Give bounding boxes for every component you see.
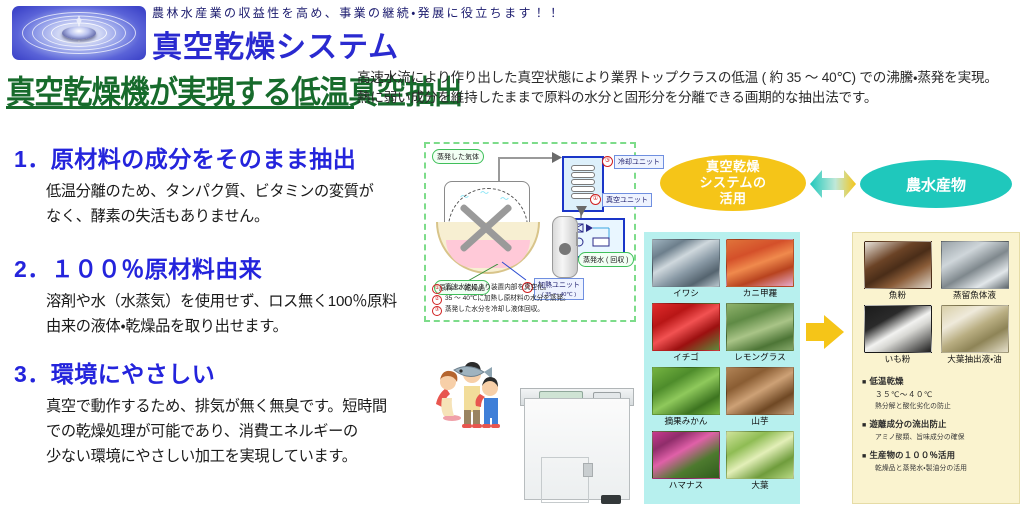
photo-lemongrass xyxy=(726,303,794,351)
list-item: 山芋 xyxy=(726,367,794,427)
feature-item-1: 1．原材料の成分をそのまま抽出 低温分離のため、タンパク質、ビタミンの変質が な… xyxy=(14,140,414,229)
legend-text-3: 蒸発した水分を冷却し液体回収。 xyxy=(445,305,544,315)
lede-line-2: 熱に弱い成分を維持したままで原料の水分と固形分を分離できる画期的な抽出法です。 xyxy=(357,88,1022,108)
photo-label: 摘果みかん xyxy=(665,416,708,427)
feature-1-title: 1．原材料の成分をそのまま抽出 xyxy=(14,140,414,174)
photo-jouryu-gyotaieki xyxy=(941,241,1009,289)
product-label: 蒸留魚体液 xyxy=(953,290,996,301)
feature-item-3: 3．環境にやさしい 真空で動作するため、排気が無く無臭です。短時間 での乾燥処理… xyxy=(14,355,414,469)
process-diagram: 蒸発した気体 ③ 冷却ユニット ① 真空ユニット xyxy=(424,142,636,322)
photo-tekka-mikan xyxy=(652,367,720,415)
benefit-1-sub: ３５℃〜４０℃ xyxy=(875,389,1010,401)
arrow-down-icon xyxy=(576,206,587,216)
photo-label: 大葉 xyxy=(751,480,768,491)
legend-line-2: ② 35 〜 40℃に加熱し原材料の水分を蒸発。 xyxy=(432,294,632,305)
raw-materials-panel: イワシ カニ甲羅 イチゴ レモングラス 摘果みかん 山芋 xyxy=(644,232,800,504)
list-item: 大葉抽出液・油 xyxy=(939,305,1010,365)
list-item: 大葉 xyxy=(726,431,794,491)
product-label: いも粉 xyxy=(885,354,911,365)
feature-1-line-1: 低温分離のため、タンパク質、ビタミンの変質が xyxy=(46,179,414,204)
poster-root: 農林水産業の収益性を高め、事業の継続・発展に役立ちます！！ 真空乾燥システム 真… xyxy=(0,0,1024,512)
feature-item-2: 2．１００％原材料由来 溶剤や水（水蒸気）を使用せず、ロス無く100％原料 由来… xyxy=(14,250,414,339)
photo-label: 山芋 xyxy=(751,416,768,427)
feature-3-line-3: 少ない環境にやさしい加工を実現しています。 xyxy=(46,444,414,469)
list-item: カニ甲羅 xyxy=(726,239,794,299)
family-holding-fish-illustration xyxy=(428,358,518,428)
photo-label: カニ甲羅 xyxy=(743,288,777,299)
benefit-2-sub2: アミノ酸類、旨味成分の確保 xyxy=(875,432,1010,444)
benefit-2-title: 遊離成分の流出防止 xyxy=(862,418,1010,432)
photo-imoko xyxy=(864,305,932,353)
photo-yamaimo xyxy=(726,367,794,415)
recovery-tank xyxy=(552,216,578,278)
lede-line-1: 高速水流により作り出した真空状態により業界トップクラスの低温 ( 約 35 〜 … xyxy=(357,68,1022,88)
photo-gyofun xyxy=(864,241,932,289)
arrow-to-cooler-icon xyxy=(552,152,562,163)
water-ripple-logo xyxy=(12,6,146,60)
feature-3-line-2: での乾燥処理が可能であり、消費エネルギーの xyxy=(46,419,414,444)
photo-ooba xyxy=(726,431,794,479)
photo-iwashi xyxy=(652,239,720,287)
badge-yellow-line-1: 真空乾燥 xyxy=(699,159,766,175)
diagram-num-1: ① xyxy=(590,194,601,205)
feature-1-body: 低温分離のため、タンパク質、ビタミンの変質が なく、酵素の失活もありません。 xyxy=(46,179,414,229)
legend-num-1: ① xyxy=(432,284,442,294)
badge-system-usage: 真空乾燥 システムの 活用 xyxy=(660,155,806,211)
legend-num-2: ② xyxy=(432,295,442,305)
list-item: 魚粉 xyxy=(862,241,933,301)
badge-agri-marine-products: 農水産物 xyxy=(860,160,1012,208)
badge-yellow-line-2: システムの xyxy=(699,175,766,191)
agitator-icon xyxy=(450,192,522,264)
photo-kani-koura xyxy=(726,239,794,287)
feature-2-body: 溶剤や水（水蒸気）を使用せず、ロス無く100％原料 由来の液体・乾燥品を取り出せ… xyxy=(46,289,414,339)
photo-ichigo xyxy=(652,303,720,351)
brand-title: 真空乾燥システム xyxy=(152,22,399,66)
feature-3-line-1: 真空で動作するため、排気が無く無臭です。短時間 xyxy=(46,394,414,419)
legend-text-2: 35 〜 40℃に加熱し原材料の水分を蒸発。 xyxy=(445,294,570,304)
photo-label: ハマナス xyxy=(669,480,703,491)
feature-2-line-1: 溶剤や水（水蒸気）を使用せず、ロス無く100％原料 xyxy=(46,289,414,314)
title-underline xyxy=(6,106,354,109)
benefit-item-2: 遊離成分の流出防止 アミノ酸類、旨味成分の確保 xyxy=(862,418,1010,444)
benefit-3-sub2: 乾燥品と蒸発水・製油分の活用 xyxy=(875,463,1010,475)
diagram-label-evap-water: 蒸発水 ( 回収 ) xyxy=(578,252,634,267)
diagram-label-cooling-unit: 冷却ユニット xyxy=(614,155,664,169)
benefits-list: 低温乾燥 ３５℃〜４０℃ 熱分解と酸化劣化の防止 遊離成分の流出防止 アミノ酸類… xyxy=(862,375,1010,475)
badge-yellow-line-3: 活用 xyxy=(699,191,766,207)
leader-line-heating xyxy=(500,260,530,282)
feature-2-line-2: 由来の液体・乾燥品を取り出せます。 xyxy=(46,314,414,339)
list-item: イワシ xyxy=(652,239,720,299)
benefit-item-1: 低温乾燥 ３５℃〜４０℃ 熱分解と酸化劣化の防止 xyxy=(862,375,1010,413)
feature-2-title: 2．１００％原材料由来 xyxy=(14,250,414,284)
double-headed-arrow-icon xyxy=(810,166,856,202)
vacuum-dryer-machine-photo xyxy=(520,382,632,500)
benefit-item-3: 生産物の１００％活用 乾燥品と蒸発水・製油分の活用 xyxy=(862,449,1010,475)
photo-ooba-chushutsueki xyxy=(941,305,1009,353)
legend-text-1: 高速水流により装置内部を真空化。 xyxy=(445,283,550,293)
photo-hamanasu xyxy=(652,431,720,479)
raw-materials-grid: イワシ カニ甲羅 イチゴ レモングラス 摘果みかん 山芋 xyxy=(652,239,792,491)
feature-3-title: 3．環境にやさしい xyxy=(14,355,414,389)
benefit-1-title: 低温乾燥 xyxy=(862,375,1010,389)
legend-line-3: ③ 蒸発した水分を冷却し液体回収。 xyxy=(432,305,632,316)
legend-num-3: ③ xyxy=(432,306,442,316)
legend-line-1: ① 高速水流により装置内部を真空化。 xyxy=(432,283,632,294)
photo-label: レモングラス xyxy=(734,352,785,363)
lede-paragraph: 高速水流により作り出した真空状態により業界トップクラスの低温 ( 約 35 〜 … xyxy=(357,68,1022,108)
products-grid: 魚粉 蒸留魚体液 いも粉 大葉抽出液・油 xyxy=(862,241,1010,365)
products-panel: 魚粉 蒸留魚体液 いも粉 大葉抽出液・油 低温乾燥 ３５℃〜４０℃ 熱分解と酸化… xyxy=(852,232,1020,504)
list-item: ハマナス xyxy=(652,431,720,491)
diagram-num-3: ③ xyxy=(602,156,613,167)
photo-label: イチゴ xyxy=(673,352,699,363)
photo-label: イワシ xyxy=(673,288,699,299)
product-label: 大葉抽出液・油 xyxy=(947,354,1002,365)
list-item: 摘果みかん xyxy=(652,367,720,427)
diagram-legend: ① 高速水流により装置内部を真空化。 ② 35 〜 40℃に加熱し原材料の水分を… xyxy=(432,283,632,316)
benefit-3-title: 生産物の１００％活用 xyxy=(862,449,1010,463)
list-item: イチゴ xyxy=(652,303,720,363)
diagram-label-vapor: 蒸発した気体 xyxy=(432,149,484,164)
diagram-label-vacuum-unit: 真空ユニット xyxy=(602,193,652,207)
list-item: レモングラス xyxy=(726,303,794,363)
right-arrow-icon xyxy=(806,315,844,349)
list-item: 蒸留魚体液 xyxy=(939,241,1010,301)
feature-1-line-2: なく、酵素の失活もありません。 xyxy=(46,204,414,229)
benefit-1-sub2: 熱分解と酸化劣化の防止 xyxy=(875,401,1010,413)
list-item: いも粉 xyxy=(862,305,933,365)
tagline: 農林水産業の収益性を高め、事業の継続・発展に役立ちます！！ xyxy=(152,4,562,21)
product-label: 魚粉 xyxy=(889,290,906,301)
feature-3-body: 真空で動作するため、排気が無く無臭です。短時間 での乾燥処理が可能であり、消費エ… xyxy=(46,394,414,469)
